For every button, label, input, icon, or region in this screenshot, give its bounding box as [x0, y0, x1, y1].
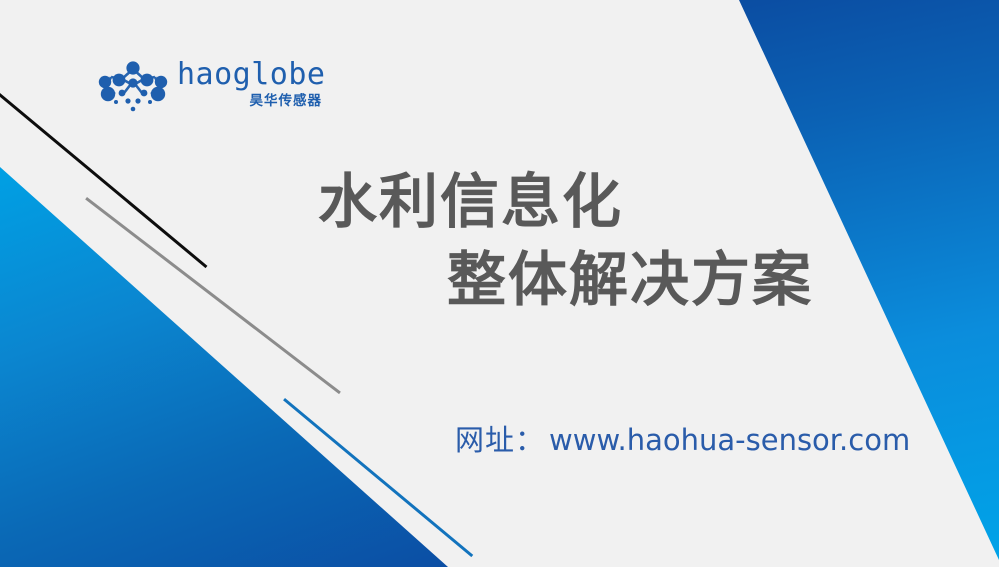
- website-label: 网址：: [455, 420, 545, 460]
- brand-wordmark: haoglobe: [177, 58, 323, 92]
- title-line-2: 整体解决方案: [0, 241, 999, 319]
- title-line-1: 水利信息化: [0, 163, 999, 241]
- website-url[interactable]: www.haohua-sensor.com: [549, 420, 910, 460]
- brand-logo-text: haoglobe 昊华传感器: [177, 58, 323, 118]
- website-line: 网址： www.haohua-sensor.com: [455, 420, 910, 460]
- brand-logo: haoglobe 昊华传感器: [97, 58, 322, 120]
- brand-subtext: 昊华传感器: [177, 92, 323, 110]
- presentation-slide: haoglobe 昊华传感器 水利信息化 整体解决方案 网址： www.haoh…: [0, 0, 999, 567]
- slide-title: 水利信息化 整体解决方案: [0, 163, 999, 319]
- haoglobe-network-dots-logo: [97, 60, 169, 116]
